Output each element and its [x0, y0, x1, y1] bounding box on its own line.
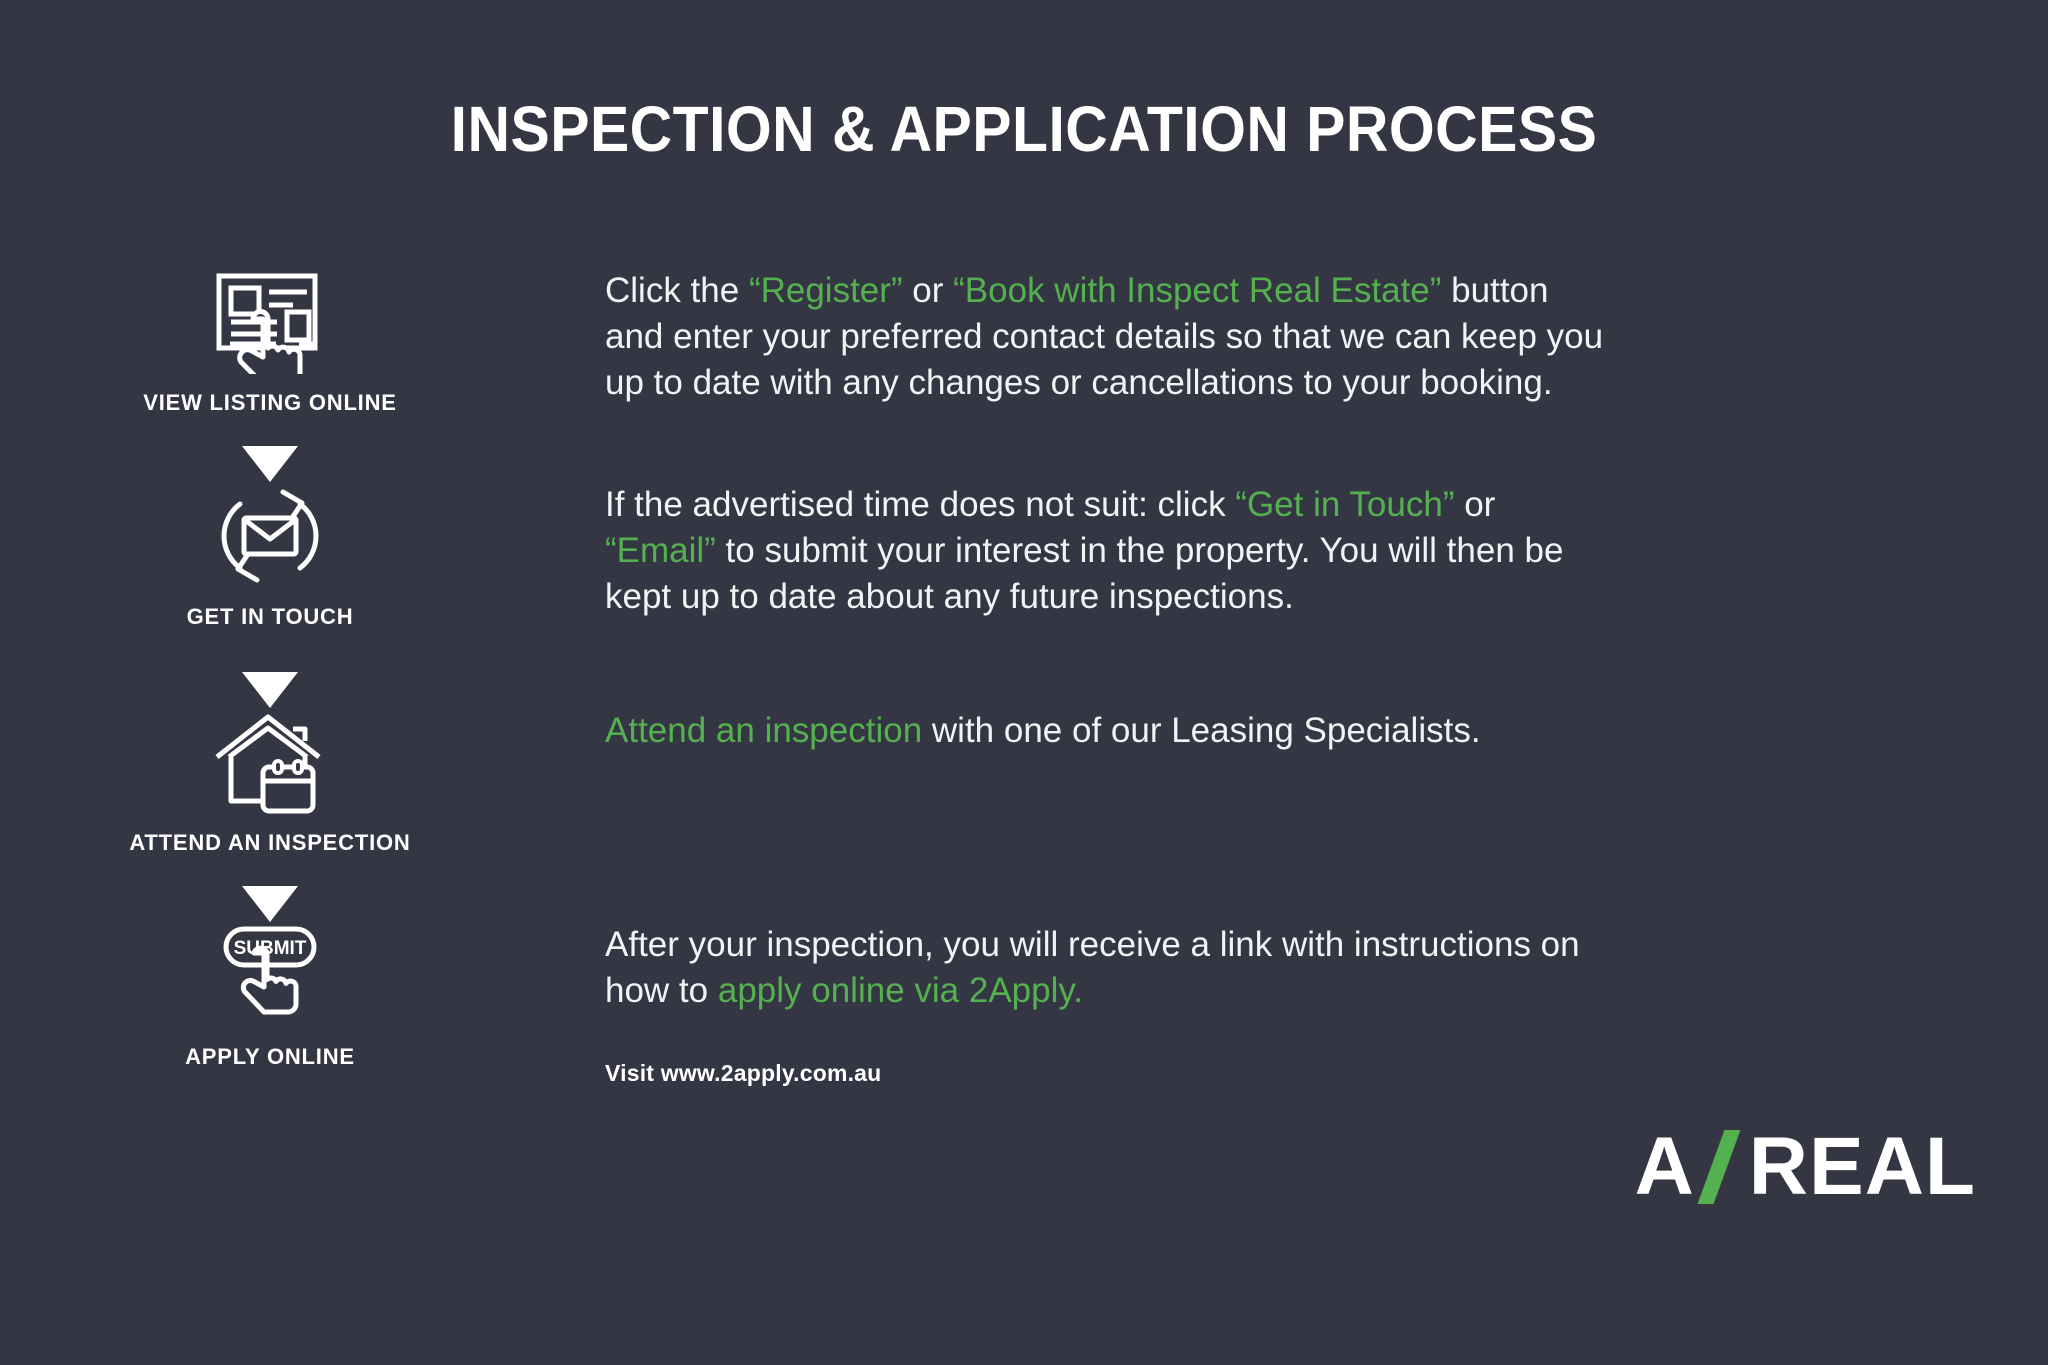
listing-page-with-pointer-icon	[210, 268, 330, 376]
submit-icon-label: SUBMIT	[234, 938, 307, 959]
connector-1	[0, 446, 540, 482]
step-description: If the advertised time does not suit: cl…	[605, 482, 1615, 621]
step-label: ATTEND AN INSPECTION	[129, 830, 410, 856]
highlighted-phrase: “Email”	[605, 531, 716, 570]
highlighted-phrase: “Register”	[749, 271, 903, 310]
step-body: After your inspection, you will receive …	[540, 922, 2048, 1087]
step-body: Attend an inspection with one of our Lea…	[540, 708, 2048, 754]
connector-2	[0, 672, 540, 708]
highlighted-phrase: Attend an inspection	[605, 711, 922, 750]
process-step-view-listing-online: VIEW LISTING ONLINE Click the “Register”…	[0, 268, 2048, 482]
highlighted-phrase: “Get in Touch”	[1235, 485, 1454, 524]
logo-word-real: REAL	[1749, 1126, 1976, 1208]
triangle-down-icon	[242, 886, 298, 922]
triangle-down-icon	[242, 672, 298, 708]
triangle-down-icon	[242, 446, 298, 482]
step-icon-column: SUBMIT APPLY ONLINE	[0, 922, 540, 1070]
step-icon-column: ATTEND AN INSPECTION	[0, 708, 540, 922]
visit-website-note: Visit www.2apply.com.au	[605, 1060, 1978, 1087]
step-label: APPLY ONLINE	[185, 1044, 355, 1070]
process-step-get-in-touch: GET IN TOUCH If the advertised time does…	[0, 482, 2048, 708]
brand-logo: A REAL	[1635, 1124, 1976, 1210]
step-label: GET IN TOUCH	[187, 604, 354, 630]
highlighted-phrase: apply online via 2Apply.	[718, 971, 1083, 1010]
process-step-apply-online: SUBMIT APPLY ONLINE After your inspectio…	[0, 922, 2048, 1087]
body-phrase: If the advertised time does not suit: cl…	[605, 485, 1235, 524]
step-body: Click the “Register” or “Book with Inspe…	[540, 268, 2048, 407]
process-flow: VIEW LISTING ONLINE Click the “Register”…	[0, 268, 2048, 1087]
step-description: Click the “Register” or “Book with Inspe…	[605, 268, 1615, 407]
logo-slash-icon	[1697, 1130, 1740, 1204]
step-icon-column: VIEW LISTING ONLINE	[0, 268, 540, 482]
step-label: VIEW LISTING ONLINE	[143, 390, 397, 416]
body-phrase: to submit your interest in the property.…	[605, 531, 1563, 616]
step-description: After your inspection, you will receive …	[605, 922, 1615, 1014]
body-phrase: Click the	[605, 271, 749, 310]
body-phrase: or	[1454, 485, 1495, 524]
page-title: INSPECTION & APPLICATION PROCESS	[82, 92, 1966, 166]
highlighted-phrase: “Book with Inspect Real Estate”	[953, 271, 1441, 310]
step-icon-column: GET IN TOUCH	[0, 482, 540, 708]
body-phrase: or	[903, 271, 954, 310]
body-phrase: with one of our Leasing Specialists.	[922, 711, 1480, 750]
step-description: Attend an inspection with one of our Lea…	[605, 708, 1615, 754]
step-body: If the advertised time does not suit: cl…	[540, 482, 2048, 621]
connector-3	[0, 886, 540, 922]
envelope-refresh-icon	[210, 482, 330, 590]
house-calendar-icon	[210, 708, 330, 816]
logo-letter-a: A	[1635, 1126, 1695, 1208]
process-step-attend-an-inspection: ATTEND AN INSPECTION Attend an inspectio…	[0, 708, 2048, 922]
submit-button-pointer-icon: SUBMIT	[210, 922, 330, 1030]
